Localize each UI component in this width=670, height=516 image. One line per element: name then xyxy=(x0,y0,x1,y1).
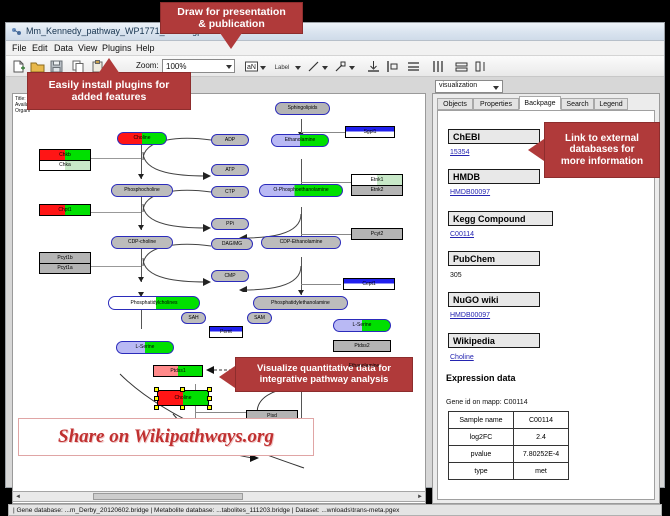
tab-backpage[interactable]: Backpage xyxy=(519,96,561,110)
scrollbar-thumb[interactable] xyxy=(93,493,243,500)
node-chkb[interactable]: Chkb xyxy=(39,149,91,160)
menu-item-data[interactable]: Data xyxy=(54,43,73,53)
menu-item-edit[interactable]: Edit xyxy=(32,43,48,53)
node-choline-selected[interactable]: Choline xyxy=(157,390,209,406)
callout-draw: Draw for presentation & publication xyxy=(160,2,303,34)
visualization-value: visualization xyxy=(439,82,477,89)
svg-text:Label: Label xyxy=(275,65,290,71)
db-header-hmdb: HMDB xyxy=(448,169,540,184)
node-o-phosphoethanolamine[interactable]: O-Phosphoethanolamine xyxy=(259,184,343,197)
edge xyxy=(301,284,341,285)
selection-handle[interactable] xyxy=(154,405,159,410)
node-cdp-ethanolamine[interactable]: CDP-Ethanolamine xyxy=(261,236,341,249)
line-icon[interactable] xyxy=(306,59,321,74)
node-ptdss2[interactable]: Ptdss2 xyxy=(333,340,391,352)
node-sphingolipids[interactable]: Sphingolipids xyxy=(275,102,330,115)
callout-share: Share on Wikipathways.org xyxy=(18,418,314,456)
title-bar: Mm_Kennedy_pathway_WP1771_45176.gpml xyxy=(6,23,664,41)
menu-item-plugins[interactable]: Plugins xyxy=(102,43,132,53)
selection-handle[interactable] xyxy=(154,387,159,392)
zoom-value: 100% xyxy=(166,62,186,71)
cell-key: type xyxy=(449,463,514,480)
cell-key: log2FC xyxy=(449,429,514,446)
node-pcyt1b[interactable]: Pcyt1b xyxy=(39,252,91,263)
expression-table: Sample name C00114 log2FC 2.4 pvalue 7.8… xyxy=(448,411,569,480)
align-left-icon[interactable] xyxy=(386,59,401,74)
table-row: type met xyxy=(449,463,569,480)
node-pemt[interactable]: Pemt xyxy=(209,326,243,338)
menu-item-view[interactable]: View xyxy=(78,43,97,53)
status-bar: | Gene database: ...m_Derby_20120602.bri… xyxy=(8,504,662,516)
node-pcyt1a[interactable]: Pcyt1a xyxy=(39,263,91,274)
db-link-nugo[interactable]: HMDB00097 xyxy=(450,312,490,319)
node-l-serine-right[interactable]: L-Serine xyxy=(333,319,391,332)
label-icon[interactable]: Label xyxy=(271,59,293,74)
node-ptdss1[interactable]: Ptdss1 xyxy=(153,365,203,377)
align-columns-icon[interactable] xyxy=(430,59,445,74)
svg-text:aN: aN xyxy=(247,64,256,71)
callout-visualize: Visualize quantitative data for integrat… xyxy=(235,357,413,392)
tab-search[interactable]: Search xyxy=(561,98,594,110)
selection-handle[interactable] xyxy=(207,387,212,392)
tab-objects[interactable]: Objects xyxy=(437,98,473,110)
node-l-serine-left[interactable]: L-Serine xyxy=(116,341,174,354)
table-row: log2FC 2.4 xyxy=(449,429,569,446)
callout-plugins: Easily install plugins for added feature… xyxy=(27,72,191,110)
cofactor-arc xyxy=(141,256,213,286)
expression-data-title: Expression data xyxy=(446,373,516,383)
distribute-icon[interactable] xyxy=(474,59,489,74)
node-atp[interactable]: ATP xyxy=(211,164,249,176)
db-header-kegg: Kegg Compound xyxy=(448,211,553,226)
db-header-wikipedia: Wikipedia xyxy=(448,333,540,348)
menu-item-file[interactable]: File xyxy=(12,43,27,53)
node-ppi[interactable]: PPi xyxy=(211,218,249,230)
node-chpt1[interactable]: Chpt1 xyxy=(39,204,91,216)
db-link-kegg[interactable]: C00114 xyxy=(450,231,474,238)
share-text: Share on Wikipathways.org xyxy=(58,426,274,448)
gene-id-line: Gene id on mapp: C00114 xyxy=(446,399,528,406)
db-link-hmdb[interactable]: HMDB00097 xyxy=(450,189,490,196)
node-cept1[interactable]: Cept1 xyxy=(343,278,395,290)
selection-handle[interactable] xyxy=(180,387,185,392)
db-link-wikipedia[interactable]: Choline xyxy=(450,354,474,361)
datanode-dropdown-icon[interactable] xyxy=(260,66,266,70)
visualization-select[interactable]: visualization xyxy=(435,80,503,93)
node-cmp[interactable]: CMP xyxy=(211,270,249,282)
cell-key: Sample name xyxy=(449,412,514,429)
callout-links: Link to external databases for more info… xyxy=(544,122,660,178)
tab-legend[interactable]: Legend xyxy=(594,98,628,110)
cofactor-arc xyxy=(141,202,213,232)
status-text: | Gene database: ...m_Derby_20120602.bri… xyxy=(13,507,399,514)
cell-value: 2.4 xyxy=(514,429,569,446)
menu-item-help[interactable]: Help xyxy=(136,43,155,53)
menu-bar: File Edit Data View Plugins Help xyxy=(6,41,664,56)
node-etnk1[interactable]: Etnk1 xyxy=(351,174,403,185)
chevron-down-icon xyxy=(493,86,499,90)
callout-arrow-down-icon xyxy=(220,33,242,49)
scroll-left-icon[interactable]: ◄ xyxy=(15,494,21,500)
node-sam[interactable]: SAM xyxy=(247,312,272,324)
node-adp[interactable]: ADP xyxy=(211,134,249,146)
edge xyxy=(301,132,351,133)
node-cdp-choline[interactable]: CDP-choline xyxy=(111,236,173,249)
cell-value: 7.80252E-4 xyxy=(514,446,569,463)
node-ctp[interactable]: CTP xyxy=(211,186,249,198)
node-dag-mg[interactable]: DAG/MG xyxy=(211,238,253,250)
db-header-chebi: ChEBI xyxy=(448,129,540,144)
cell-value: C00114 xyxy=(514,412,569,429)
receptor-dropdown-icon[interactable] xyxy=(349,66,355,70)
zoom-label: Zoom: xyxy=(136,61,159,70)
cell-key: pvalue xyxy=(449,446,514,463)
canvas-hscrollbar[interactable]: ◄ ► xyxy=(12,491,426,502)
node-chka[interactable]: Chka xyxy=(39,160,91,171)
zoom-select[interactable]: 100% xyxy=(162,59,235,73)
receptor-icon[interactable] xyxy=(333,59,348,74)
node-phosphocholine[interactable]: Phosphocholine xyxy=(111,184,173,197)
node-sgpl1[interactable]: Sgpl1 xyxy=(345,126,395,138)
line-dropdown-icon[interactable] xyxy=(322,66,328,70)
db-header-pubchem: PubChem xyxy=(448,251,540,266)
align-top-icon[interactable] xyxy=(366,59,381,74)
selection-handle[interactable] xyxy=(207,396,212,401)
callout-arrow-left-icon xyxy=(219,366,235,388)
node-etnk2[interactable]: Etnk2 xyxy=(351,185,403,196)
node-ethanolamine[interactable]: Ethanolamine xyxy=(271,134,329,147)
table-row: Sample name C00114 xyxy=(449,412,569,429)
node-phosphatidylethanolamine[interactable]: Phosphatidylethanolamine xyxy=(253,296,348,310)
node-phosphatidylcholines[interactable]: Phosphatidylcholines xyxy=(108,296,200,310)
cofactor-arc xyxy=(141,150,213,180)
label-dropdown-icon[interactable] xyxy=(295,66,301,70)
chevron-down-icon xyxy=(226,65,232,69)
tab-properties[interactable]: Properties xyxy=(473,98,519,110)
db-header-nugo: NuGO wiki xyxy=(448,292,540,307)
screenshot-root: Mm_Kennedy_pathway_WP1771_45176.gpml Fil… xyxy=(0,0,670,509)
table-row: pvalue 7.80252E-4 xyxy=(449,446,569,463)
datanode-icon[interactable]: aN xyxy=(244,59,259,74)
selection-handle[interactable] xyxy=(207,405,212,410)
selection-handle[interactable] xyxy=(180,405,185,410)
align-rows-icon[interactable] xyxy=(406,59,421,74)
callout-arrow-left-icon xyxy=(528,139,544,161)
db-link-chebi[interactable]: 15354 xyxy=(450,149,469,156)
scroll-right-icon[interactable]: ► xyxy=(417,494,423,500)
db-value-pubchem: 305 xyxy=(450,272,462,279)
new-icon[interactable] xyxy=(11,59,26,74)
cell-value: met xyxy=(514,463,569,480)
selection-handle[interactable] xyxy=(154,396,159,401)
node-choline[interactable]: Choline xyxy=(117,132,167,145)
node-pcyt2[interactable]: Pcyt2 xyxy=(351,228,403,240)
node-sah[interactable]: SAH xyxy=(181,312,206,324)
stack-icon[interactable] xyxy=(454,59,469,74)
callout-arrow-up-icon xyxy=(98,58,120,74)
app-icon xyxy=(11,26,22,37)
